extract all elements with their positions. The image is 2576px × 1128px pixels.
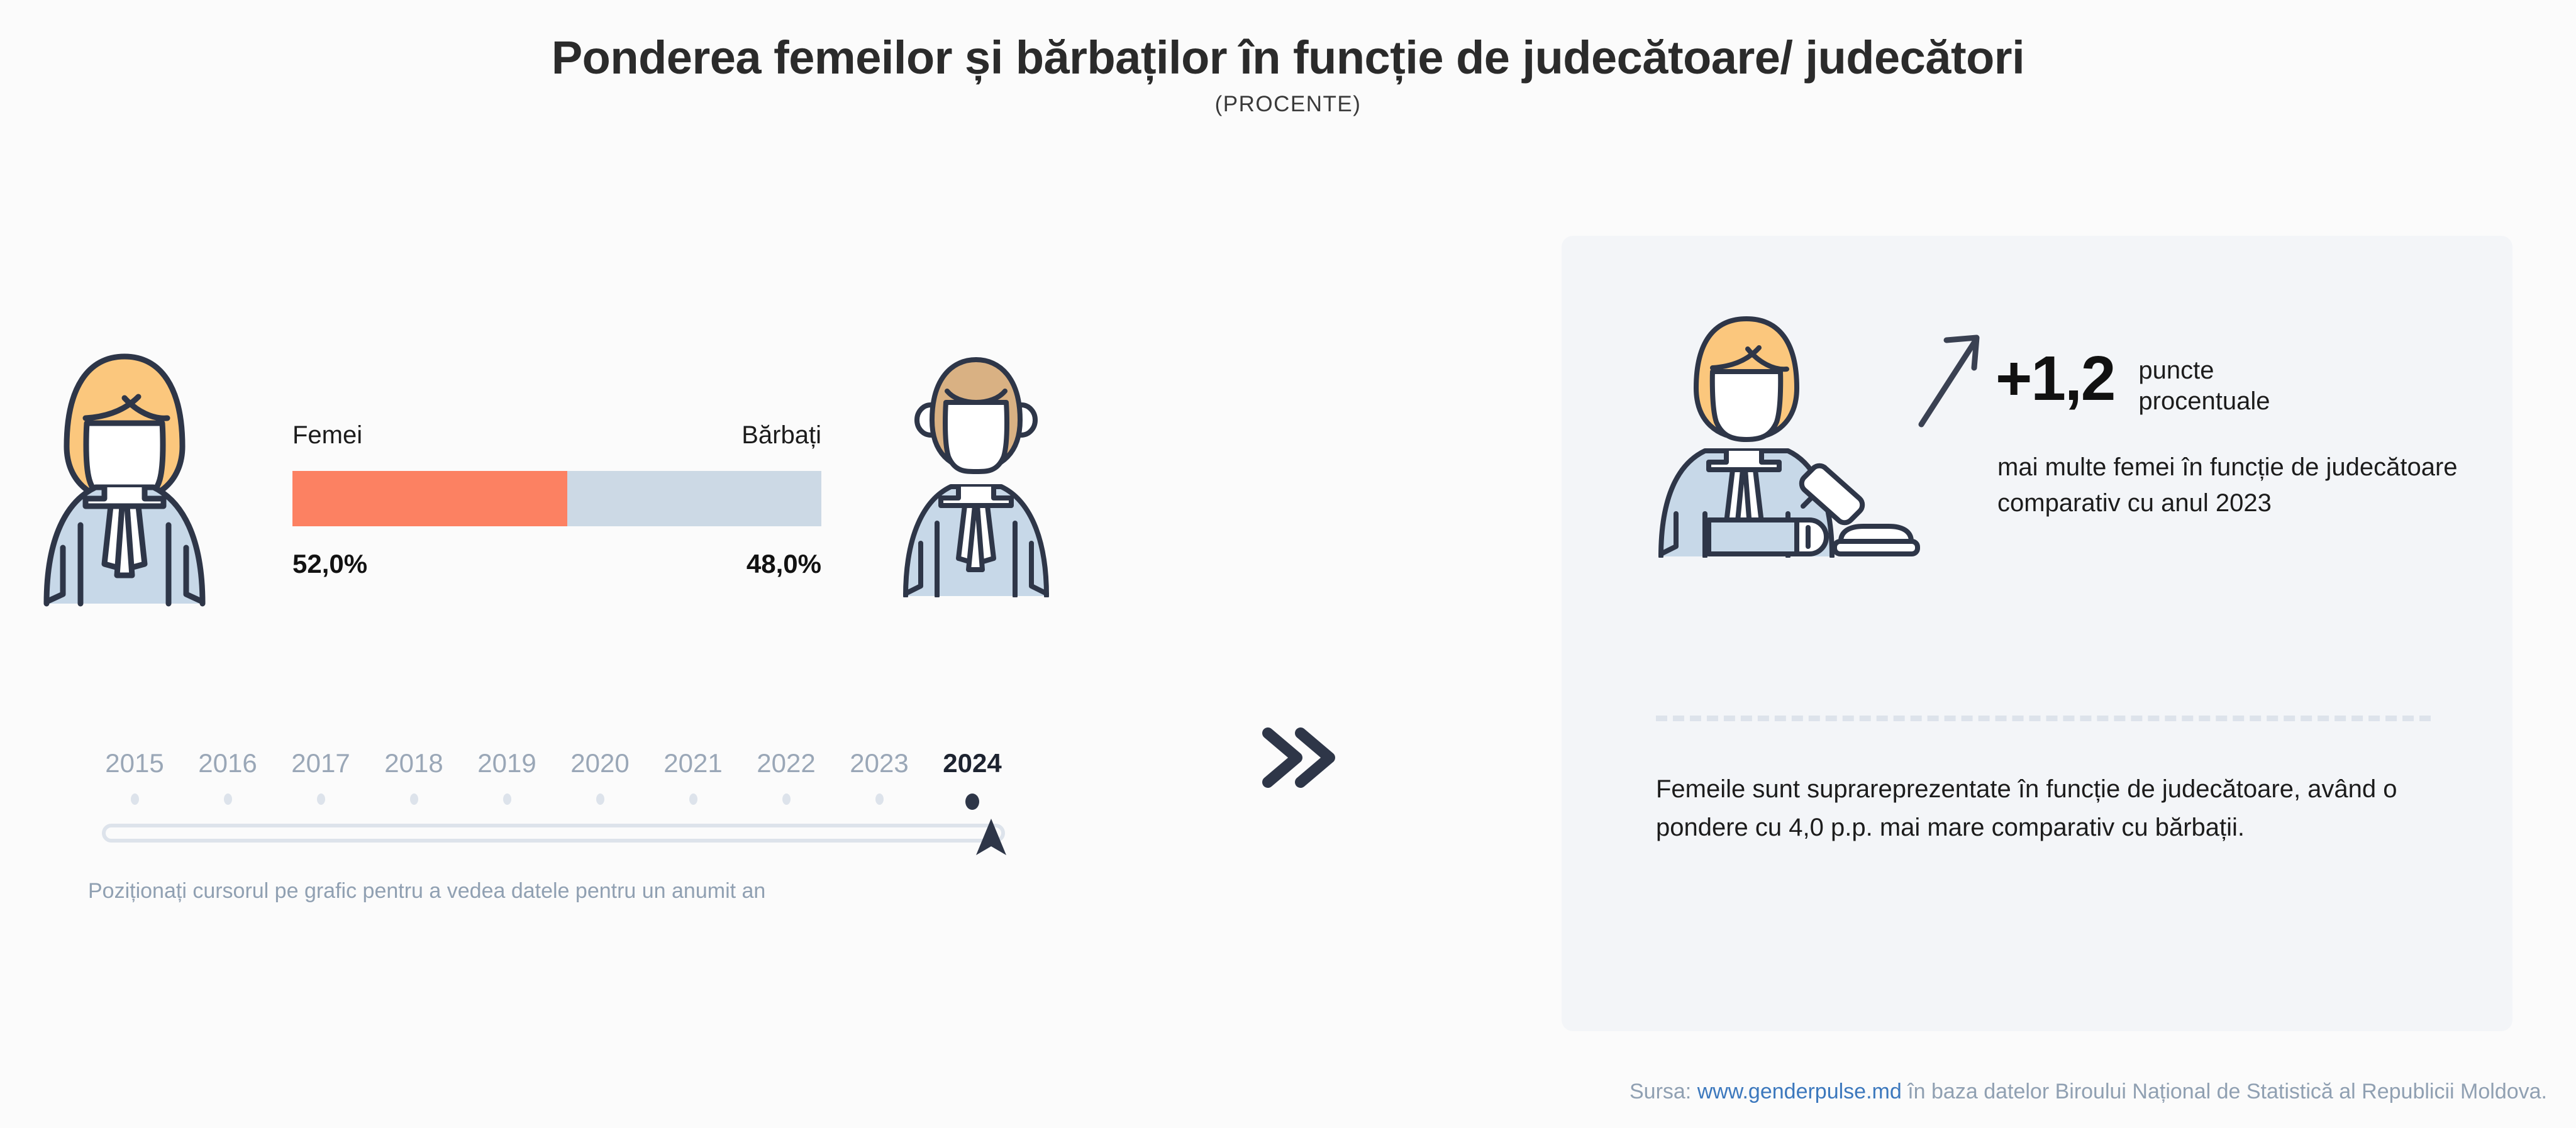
source-footer: Sursa: www.genderpulse.md în baza datelo… <box>0 1080 2547 1104</box>
dot-icon <box>689 793 697 805</box>
source-suffix: în baza datelor Biroului Național de Sta… <box>1902 1080 2547 1103</box>
panel-note: Femeile sunt suprareprezentate în funcți… <box>1656 770 2467 847</box>
bar-segment-barbati[interactable] <box>567 471 821 526</box>
year-label-2021[interactable]: 2021 <box>647 748 740 778</box>
panel-divider <box>1656 716 2431 721</box>
legend-label-barbati: Bărbați <box>741 421 821 450</box>
year-slider[interactable] <box>88 819 1019 854</box>
page-title: Ponderea femeilor și bărbaților în funcț… <box>0 33 2576 83</box>
year-labels: 2015201620172018201920202021202220232024 <box>88 748 1019 778</box>
kpi-description: mai multe femei în funcție de judecătoar… <box>1997 450 2463 521</box>
year-dot-2021[interactable] <box>647 793 740 810</box>
year-label-2022[interactable]: 2022 <box>740 748 833 778</box>
year-dot-2022[interactable] <box>740 793 833 810</box>
kpi-value: +1,2 <box>1996 349 2114 409</box>
value-labels: 52,0% 48,0% <box>292 549 821 579</box>
year-dot-2024[interactable] <box>926 793 1019 810</box>
year-dot-2015[interactable] <box>88 793 181 810</box>
dot-icon <box>503 793 511 805</box>
series-legend: Femei Bărbați <box>292 421 821 450</box>
timeline-hint: Poziționați cursorul pe grafic pentru a … <box>88 879 1019 904</box>
value-barbati: 48,0% <box>747 549 821 579</box>
male-judge-avatar-icon <box>894 346 1058 600</box>
year-label-2018[interactable]: 2018 <box>367 748 460 778</box>
kpi-unit-line1: puncte <box>2138 355 2270 386</box>
slider-track[interactable] <box>102 824 1005 843</box>
year-dot-2020[interactable] <box>553 793 647 810</box>
dot-icon <box>596 793 604 805</box>
female-judge-avatar-icon <box>30 318 219 610</box>
bar-segment-femei[interactable] <box>292 471 567 526</box>
value-femei: 52,0% <box>292 549 367 579</box>
trend-up-arrow-icon <box>1914 330 1989 434</box>
stacked-bar[interactable] <box>292 471 821 526</box>
legend-label-femei: Femei <box>292 421 362 450</box>
source-link[interactable]: www.genderpulse.md <box>1697 1080 1902 1103</box>
header: Ponderea femeilor și bărbaților în funcț… <box>0 33 2576 117</box>
year-label-2016[interactable]: 2016 <box>181 748 274 778</box>
year-dot-2017[interactable] <box>274 793 367 810</box>
year-dot-2018[interactable] <box>367 793 460 810</box>
chevron-double-right-icon <box>1258 723 1340 795</box>
year-label-2024[interactable]: 2024 <box>926 748 1019 778</box>
kpi-figure: +1,2 puncte procentuale <box>1996 349 2270 417</box>
year-dot-2023[interactable] <box>833 793 926 810</box>
chart-panel: Femei Bărbați 52,0% 48,0% <box>0 252 1509 943</box>
dot-icon <box>782 793 791 805</box>
dot-icon <box>965 793 979 810</box>
year-label-2015[interactable]: 2015 <box>88 748 181 778</box>
kpi-unit-line2: procentuale <box>2138 386 2270 417</box>
year-dots[interactable] <box>88 793 1019 810</box>
stacked-bar-group: Femei Bărbați 52,0% 48,0% <box>292 421 821 579</box>
kpi-unit: puncte procentuale <box>2138 355 2270 417</box>
dot-icon <box>317 793 325 805</box>
year-label-2019[interactable]: 2019 <box>460 748 553 778</box>
slider-cursor-icon[interactable] <box>971 815 1011 862</box>
page-subtitle: (PROCENTE) <box>0 92 2576 117</box>
year-timeline[interactable]: 2015201620172018201920202021202220232024… <box>88 748 1019 904</box>
year-label-2017[interactable]: 2017 <box>274 748 367 778</box>
dot-icon <box>224 793 232 805</box>
dot-icon <box>131 793 139 805</box>
year-dot-2019[interactable] <box>460 793 553 810</box>
dot-icon <box>875 793 884 805</box>
kpi-row: +1,2 puncte procentuale mai multe femei … <box>1562 236 2512 638</box>
kpi-panel: +1,2 puncte procentuale mai multe femei … <box>1562 236 2512 1031</box>
judge-with-gavel-icon <box>1642 306 1938 561</box>
source-prefix: Sursa: <box>1629 1080 1697 1103</box>
dot-icon <box>410 793 418 805</box>
year-label-2020[interactable]: 2020 <box>553 748 647 778</box>
year-dot-2016[interactable] <box>181 793 274 810</box>
year-label-2023[interactable]: 2023 <box>833 748 926 778</box>
